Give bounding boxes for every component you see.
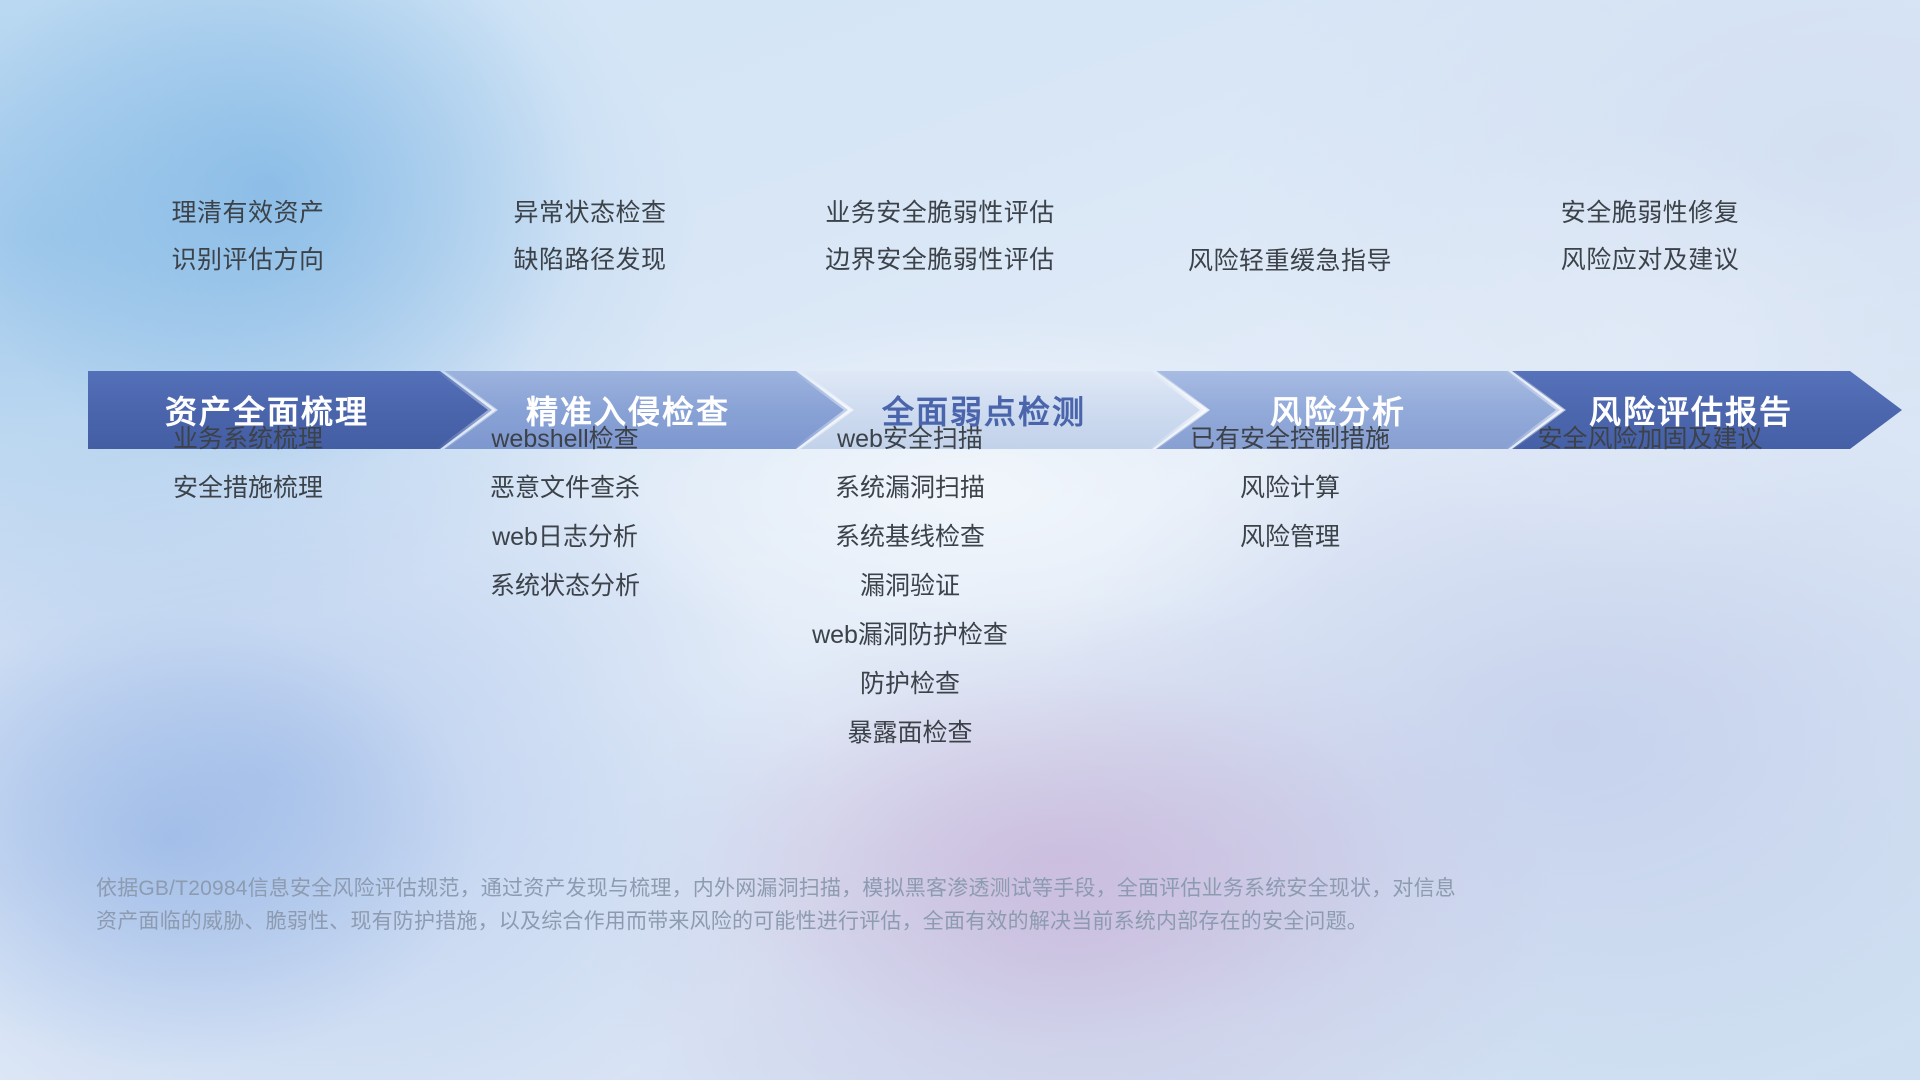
pre-item: 安全脆弱性修复 xyxy=(1440,190,1860,237)
pre-item: 业务安全脆弱性评估 xyxy=(700,190,1180,237)
background-glow-right xyxy=(1260,40,1920,660)
post-item: 安全风险加固及建议 xyxy=(1430,415,1870,464)
post-item: 系统基线检查 xyxy=(690,513,1130,562)
pre-items-risk-report: 安全脆弱性修复 风险应对及建议 xyxy=(1440,190,1860,284)
footer-line-1: 依据GB/T20984信息安全风险评估规范，通过资产发现与梳理，内外网漏洞扫描，… xyxy=(96,872,1736,905)
pre-item: 风险应对及建议 xyxy=(1440,237,1860,284)
infographic-canvas: 理清有效资产 识别评估方向 异常状态检查 缺陷路径发现 业务安全脆弱性评估 边界… xyxy=(0,0,1920,1080)
post-item: 漏洞验证 xyxy=(690,562,1130,611)
footer-line-2: 资产面临的威胁、脆弱性、现有防护措施，以及综合作用而带来风险的可能性进行评估，全… xyxy=(96,905,1736,938)
post-item: 风险管理 xyxy=(1090,513,1490,562)
post-item: 系统漏洞扫描 xyxy=(690,464,1130,513)
post-item: 风险计算 xyxy=(1090,464,1490,513)
post-item: 暴露面检查 xyxy=(690,709,1130,758)
post-items-risk-report: 安全风险加固及建议 xyxy=(1430,415,1870,464)
pre-item: 风险轻重缓急指导 xyxy=(1080,238,1500,285)
post-item: web漏洞防护检查 xyxy=(690,611,1130,660)
post-item: web安全扫描 xyxy=(690,415,1130,464)
post-items-weakness-detection: web安全扫描 系统漏洞扫描 系统基线检查 漏洞验证 web漏洞防护检查 防护检… xyxy=(690,415,1130,758)
post-item: 防护检查 xyxy=(690,660,1130,709)
pre-items-risk-analysis: 风险轻重缓急指导 xyxy=(1080,238,1500,285)
footer-description: 依据GB/T20984信息安全风险评估规范，通过资产发现与梳理，内外网漏洞扫描，… xyxy=(96,872,1736,938)
